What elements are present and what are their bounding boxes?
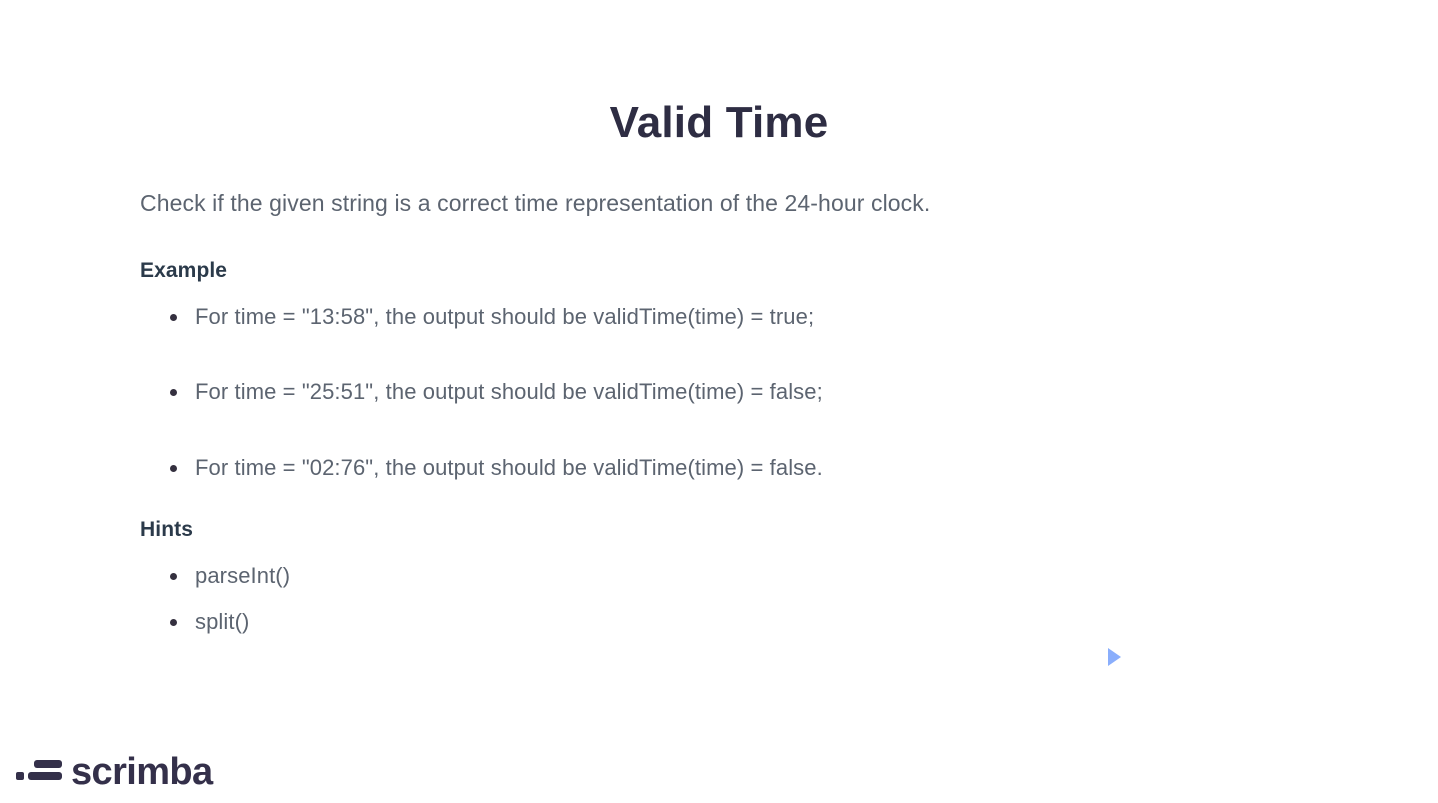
list-item: For time = "13:58", the output should be… xyxy=(170,301,1280,333)
list-item: For time = "25:51", the output should be… xyxy=(170,376,1280,408)
example-list: For time = "13:58", the output should be… xyxy=(140,301,1280,485)
scrimba-logo: scrimba xyxy=(16,745,213,789)
hints-list: parseInt() split() xyxy=(140,560,1280,638)
scrimba-mark-icon xyxy=(16,756,62,786)
slide-canvas: Valid Time Check if the given string is … xyxy=(0,0,1438,803)
page-title: Valid Time xyxy=(0,97,1438,150)
list-item: parseInt() xyxy=(170,560,1280,592)
list-item: For time = "02:76", the output should be… xyxy=(170,452,1280,484)
hints-section: Hints parseInt() split() xyxy=(140,518,1280,638)
example-section: Example For time = "13:58", the output s… xyxy=(140,259,1280,485)
section-heading-hints: Hints xyxy=(140,518,1280,542)
list-item: split() xyxy=(170,606,1280,638)
problem-description: Check if the given string is a correct t… xyxy=(140,186,1280,221)
mouse-cursor-icon xyxy=(1108,648,1121,666)
section-heading-example: Example xyxy=(140,259,1280,283)
slide-content: Check if the given string is a correct t… xyxy=(140,186,1280,638)
scrimba-wordmark: scrimba xyxy=(71,755,213,789)
